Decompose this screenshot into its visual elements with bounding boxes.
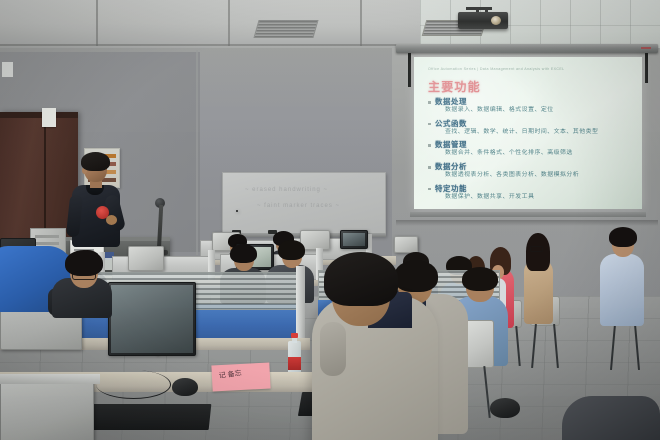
monitor-stand	[0, 374, 100, 384]
ceiling-seam	[96, 0, 98, 46]
cabinet-top-edge	[0, 112, 78, 118]
slide-shading	[414, 57, 642, 209]
drive-slot-icon	[35, 235, 59, 238]
sticky-note-text: 记 备忘	[218, 368, 242, 381]
screen-roller-bar[interactable]	[396, 44, 658, 53]
posted-notice-paper	[42, 108, 56, 127]
monitor-rear-large	[0, 380, 94, 440]
wall-corner-edge	[196, 50, 198, 255]
presentation-slide: Office Automation Series | Data Manageme…	[414, 57, 642, 209]
audience-hair	[462, 267, 498, 291]
projector-lens-icon	[491, 16, 501, 25]
presenter-hair	[81, 152, 110, 171]
audience-torso	[562, 396, 660, 440]
monitor-screen	[343, 233, 365, 246]
screen-cord-left	[408, 53, 411, 87]
ceiling-seam	[360, 0, 362, 46]
mouse-cable	[96, 370, 171, 399]
roller-marker-icon	[641, 47, 651, 49]
mouse[interactable]	[490, 398, 520, 418]
whiteboard-ghost-text: ~ faint marker traces ~	[257, 203, 340, 209]
bottle-label	[288, 357, 301, 370]
mouse[interactable]	[172, 378, 198, 396]
monitor-rear	[394, 236, 418, 253]
drive-slot-icon	[35, 242, 59, 245]
whiteboard-ghost-text: ~ erased handwriting ~	[245, 187, 328, 193]
bottle-cap-icon	[291, 333, 298, 338]
screen-cord-right	[645, 53, 648, 83]
audience-hair	[609, 227, 637, 247]
audience-hair-long	[526, 233, 550, 271]
audience-hair	[278, 240, 305, 260]
monitor-rear	[128, 246, 164, 271]
ceiling-seam	[228, 0, 230, 46]
ceiling-seam	[0, 44, 430, 46]
audience-hair	[230, 244, 257, 263]
projector	[458, 8, 508, 30]
sticky-note[interactable]: 记 备忘	[211, 363, 270, 392]
posted-notice-paper	[2, 62, 13, 77]
projection-screen: Office Automation Series | Data Manageme…	[396, 44, 658, 222]
eyeglasses-icon	[530, 246, 543, 252]
ceiling-vent-icon	[253, 20, 318, 38]
monitor-large	[108, 282, 196, 356]
monitor	[340, 230, 368, 249]
projector-mount-plate	[466, 7, 492, 10]
monitor-placeholder	[236, 210, 238, 212]
audience-hair	[394, 260, 438, 292]
water-bottle[interactable]	[288, 333, 301, 375]
whiteboard: ~ erased handwriting ~ ~ faint marker tr…	[222, 172, 386, 236]
audience-hair	[324, 252, 398, 306]
eyeglasses-icon	[72, 272, 96, 280]
monitor-screen	[111, 285, 193, 353]
audience-arm	[320, 322, 346, 376]
audience-torso	[600, 254, 644, 326]
screen-bottom-bar	[410, 212, 646, 217]
classroom-photo: Office Automation Series | Data Manageme…	[0, 0, 660, 440]
screen-drop-shadow	[396, 220, 658, 226]
presenter-hand	[106, 215, 117, 225]
